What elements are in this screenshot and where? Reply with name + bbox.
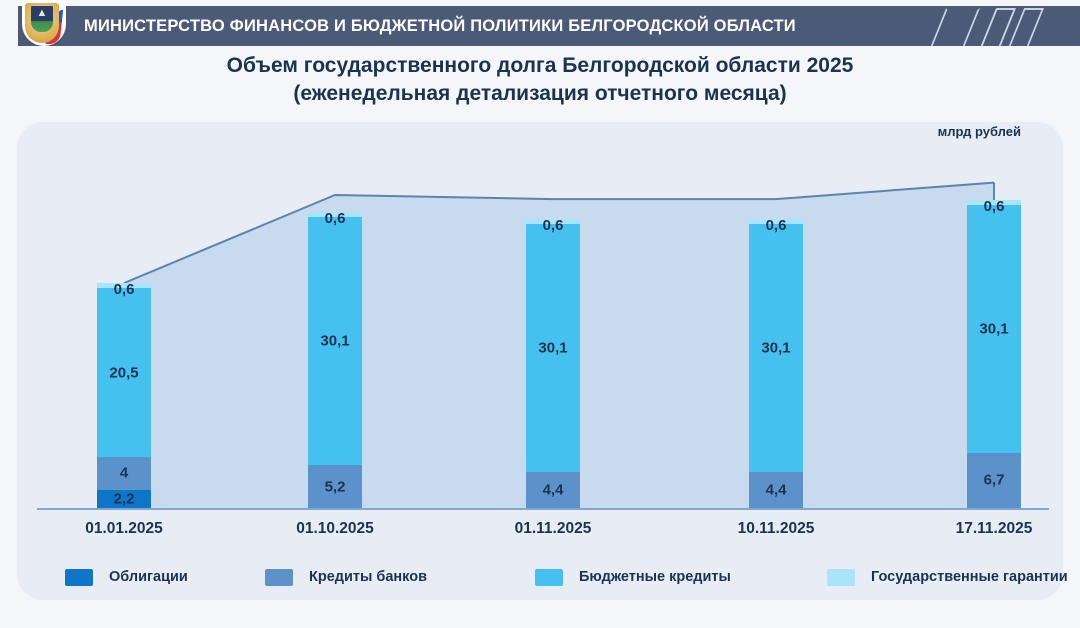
legend-item[interactable]: Кредиты банков — [265, 565, 427, 589]
bar-segment-value: 2,2 — [97, 490, 151, 507]
organization-title: МИНИСТЕРСТВО ФИНАНСОВ И БЮДЖЕТНОЙ ПОЛИТИ… — [84, 6, 796, 46]
legend-item[interactable]: Государственные гарантии — [827, 565, 1068, 589]
bar-segment-budget-credits[interactable]: 30,1 — [308, 217, 362, 465]
bar-segment-value: 30,1 — [749, 339, 803, 356]
bar-segment-value: 30,1 — [967, 320, 1021, 337]
bar-group[interactable]: 4,430,10,6 — [749, 219, 803, 508]
page-header: МИНИСТЕРСТВО ФИНАНСОВ И БЮДЖЕТНОЙ ПОЛИТИ… — [0, 6, 1080, 46]
bar-segment-bank-credits[interactable]: 5,2 — [308, 465, 362, 508]
legend-swatch — [535, 569, 563, 586]
page-title-line2: (еженедельная детализация отчетного меся… — [0, 80, 1080, 108]
page-title-line1: Объем государственного долга Белгородско… — [227, 54, 854, 77]
header-left-notch — [0, 6, 18, 46]
bar-segment-bank-credits[interactable]: 4,4 — [526, 472, 580, 508]
bar-segment-state-guarantee[interactable]: 0,6 — [526, 219, 580, 224]
bar-segment-budget-credits[interactable]: 30,1 — [967, 205, 1021, 453]
bar-group[interactable]: 6,730,10,6 — [967, 200, 1021, 508]
legend-swatch — [265, 569, 293, 586]
header-decoration-slashes — [932, 8, 1072, 46]
x-axis-line — [37, 508, 1049, 510]
bar-segment-bank-credits[interactable]: 4 — [97, 457, 151, 490]
bar-segment-value: 0,6 — [526, 217, 580, 234]
bar-segment-value: 20,5 — [97, 364, 151, 381]
bar-segment-budget-credits[interactable]: 20,5 — [97, 288, 151, 457]
x-axis-label: 01.01.2025 — [44, 520, 204, 538]
bar-segment-value: 0,6 — [308, 210, 362, 227]
x-axis-label: 17.11.2025 — [914, 520, 1074, 538]
bar-segment-value: 0,6 — [967, 198, 1021, 215]
chart-panel: млрд рублей 2,2420,50,601.01.20255,230,1… — [17, 122, 1063, 600]
coat-of-arms-logo: ▲ — [22, 0, 70, 46]
bar-segment-value: 0,6 — [97, 281, 151, 298]
legend-label: Государственные гарантии — [871, 569, 1068, 585]
bar-segment-bank-credits[interactable]: 4,4 — [749, 472, 803, 508]
bar-segment-value: 30,1 — [526, 339, 580, 356]
chart-plot-area: 2,2420,50,601.01.20255,230,10,601.10.202… — [17, 122, 1063, 600]
legend-item[interactable]: Облигации — [65, 565, 188, 589]
bar-segment-value: 30,1 — [308, 333, 362, 350]
legend-swatch — [65, 569, 93, 586]
bar-group[interactable]: 5,230,10,6 — [308, 212, 362, 508]
bar-segment-bank-credits[interactable]: 6,7 — [967, 453, 1021, 508]
page-title: Объем государственного долга Белгородско… — [0, 52, 1080, 108]
bar-segment-value: 5,2 — [308, 478, 362, 495]
legend-label: Кредиты банков — [309, 569, 427, 585]
x-axis-label: 01.11.2025 — [473, 520, 633, 538]
bar-segment-obligations[interactable]: 2,2 — [97, 490, 151, 508]
x-axis-label: 10.11.2025 — [696, 520, 856, 538]
eagle-icon: ▲ — [35, 8, 49, 19]
bar-segment-state-guarantee[interactable]: 0,6 — [97, 283, 151, 288]
bar-segment-value: 6,7 — [967, 472, 1021, 489]
bar-segment-value: 4,4 — [526, 481, 580, 498]
slash-shape-1 — [930, 8, 980, 46]
bar-segment-value: 4 — [97, 465, 151, 482]
bar-group[interactable]: 2,2420,50,6 — [97, 283, 151, 508]
legend-swatch — [827, 569, 855, 586]
bar-segment-state-guarantee[interactable]: 0,6 — [308, 212, 362, 217]
legend-label: Облигации — [109, 569, 188, 585]
legend-item[interactable]: Бюджетные кредиты — [535, 565, 731, 589]
chart-legend: ОблигацииКредиты банковБюджетные кредиты… — [37, 565, 1047, 595]
bar-segment-budget-credits[interactable]: 30,1 — [749, 224, 803, 472]
x-axis-label: 01.10.2025 — [255, 520, 415, 538]
legend-label: Бюджетные кредиты — [579, 569, 731, 585]
bar-segment-budget-credits[interactable]: 30,1 — [526, 224, 580, 472]
bar-segment-state-guarantee[interactable]: 0,6 — [967, 200, 1021, 205]
bar-segment-state-guarantee[interactable]: 0,6 — [749, 219, 803, 224]
slide-root: МИНИСТЕРСТВО ФИНАНСОВ И БЮДЖЕТНОЙ ПОЛИТИ… — [0, 0, 1080, 628]
bar-segment-value: 0,6 — [749, 217, 803, 234]
bar-group[interactable]: 4,430,10,6 — [526, 219, 580, 508]
bar-segment-value: 4,4 — [749, 481, 803, 498]
